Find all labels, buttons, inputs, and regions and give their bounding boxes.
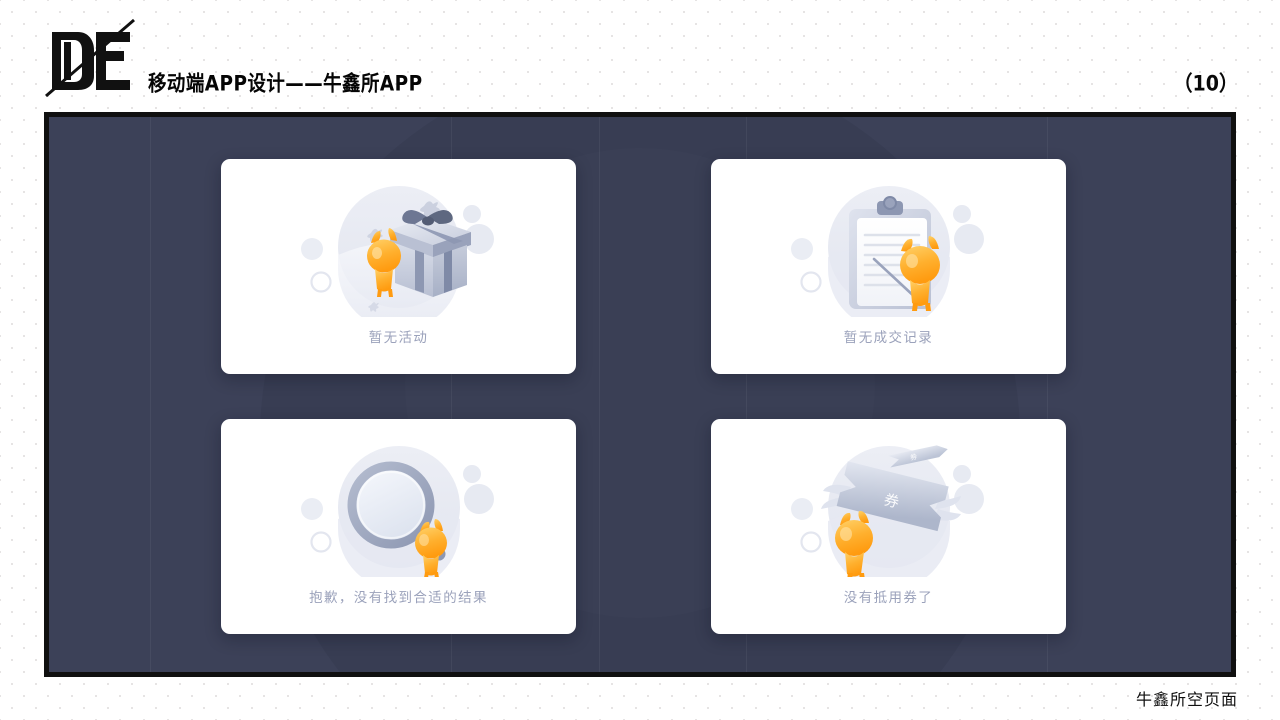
card-no-transaction-record[interactable]: 暂无成交记录 [711,159,1066,374]
panel-background: 暂无活动 [49,117,1231,672]
empty-state-showcase-panel: 暂无活动 [44,112,1236,677]
card-caption: 暂无活动 [221,326,576,346]
coupon-illustration: 券 券 [711,437,1066,577]
footer-caption: 牛鑫所空页面 [1136,686,1238,710]
page-title: 移动端APP设计——牛鑫所APP [148,67,423,97]
empty-state-card-grid: 暂无活动 [49,117,1231,672]
card-caption: 没有抵用券了 [711,586,1066,606]
card-caption: 暂无成交记录 [711,326,1066,346]
gift-box-illustration [221,177,576,317]
card-no-activity[interactable]: 暂无活动 [221,159,576,374]
page-number: （10） [1174,67,1238,97]
clipboard-illustration [711,177,1066,317]
card-no-coupon[interactable]: 券 券 [711,419,1066,634]
magnifier-illustration [221,437,576,577]
de-monogram-logo [44,18,136,98]
card-caption: 抱歉，没有找到合适的结果 [221,586,576,606]
card-no-search-result[interactable]: 抱歉，没有找到合适的结果 [221,419,576,634]
slide-header: 移动端APP设计——牛鑫所APP （10） [0,0,1280,108]
